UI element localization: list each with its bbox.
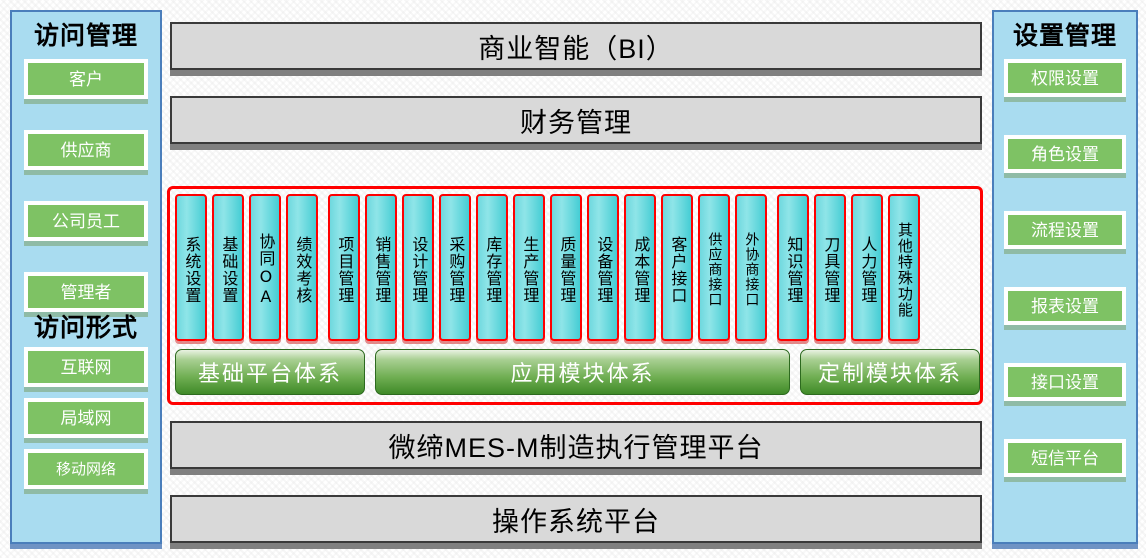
module-outsourcing-interface[interactable]: 外协商接口	[735, 194, 767, 341]
module-label: 库存管理	[484, 236, 501, 304]
module-label: 项目管理	[336, 236, 353, 304]
access-item-supplier[interactable]: 供应商	[24, 130, 148, 170]
module-quality-management[interactable]: 质量管理	[550, 194, 582, 341]
module-supplier-interface[interactable]: 供应商接口	[698, 194, 730, 341]
module-procurement-management[interactable]: 采购管理	[439, 194, 471, 341]
module-group-custom: 知识管理 刀具管理 人力管理 其他特殊功能	[777, 194, 920, 341]
module-label: 基础设置	[220, 236, 237, 304]
module-basic-settings[interactable]: 基础设置	[212, 194, 244, 341]
layer-mes-platform[interactable]: 微缔MES-M制造执行管理平台	[170, 421, 982, 469]
access-management-title: 访问管理	[12, 24, 160, 49]
module-sales-management[interactable]: 销售管理	[365, 194, 397, 341]
settings-management-title: 设置管理	[994, 24, 1136, 49]
settings-management-panel: 设置管理 权限设置 角色设置 流程设置 报表设置 接口设置 短信平台	[992, 10, 1138, 544]
module-label: 成本管理	[632, 236, 649, 304]
module-label: 知识管理	[785, 236, 802, 304]
setting-item-sms-platform[interactable]: 短信平台	[1004, 439, 1126, 477]
module-project-management[interactable]: 项目管理	[328, 194, 360, 341]
system-bar-application[interactable]: 应用模块体系	[375, 349, 790, 395]
module-label: 人力管理	[859, 236, 876, 304]
module-customer-interface[interactable]: 客户接口	[661, 194, 693, 341]
access-item-customer[interactable]: 客户	[24, 59, 148, 99]
module-production-management[interactable]: 生产管理	[513, 194, 545, 341]
layer-business-intelligence[interactable]: 商业智能（BI）	[170, 22, 982, 70]
access-management-panel: 访问管理 客户 供应商 公司员工 管理者 访问形式 互联网 局域网 移动网络	[10, 10, 162, 544]
module-group-application: 项目管理 销售管理 设计管理 采购管理 库存管理 生产管理 质量管理 设备管理 …	[328, 194, 767, 341]
setting-item-interface[interactable]: 接口设置	[1004, 363, 1126, 401]
module-label: 外协商接口	[744, 232, 759, 307]
module-tool-management[interactable]: 刀具管理	[814, 194, 846, 341]
access-form-title: 访问形式	[12, 316, 160, 341]
module-label: 质量管理	[558, 236, 575, 304]
module-label: 设计管理	[410, 236, 427, 304]
layer-financial-management[interactable]: 财务管理	[170, 96, 982, 144]
module-human-resource-management[interactable]: 人力管理	[851, 194, 883, 341]
module-other-special-functions[interactable]: 其他特殊功能	[888, 194, 920, 341]
module-label: 协同OA	[257, 233, 274, 307]
diagram-canvas: 访问管理 客户 供应商 公司员工 管理者 访问形式 互联网 局域网 移动网络 商…	[0, 0, 1146, 558]
module-equipment-management[interactable]: 设备管理	[587, 194, 619, 341]
module-label: 销售管理	[373, 236, 390, 304]
module-label: 其他特殊功能	[896, 222, 912, 318]
module-matrix: 系统设置 基础设置 协同OA 绩效考核 项目管理 销售管理 设计管理 采购管理 …	[167, 186, 983, 405]
module-label: 设备管理	[595, 236, 612, 304]
module-knowledge-management[interactable]: 知识管理	[777, 194, 809, 341]
system-bar-custom[interactable]: 定制模块体系	[800, 349, 980, 395]
access-form-internet[interactable]: 互联网	[24, 347, 148, 387]
setting-item-report[interactable]: 报表设置	[1004, 287, 1126, 325]
module-performance-appraisal[interactable]: 绩效考核	[286, 194, 318, 341]
setting-item-permission[interactable]: 权限设置	[1004, 59, 1126, 97]
module-label: 系统设置	[183, 236, 200, 304]
module-group-base-platform: 系统设置 基础设置 协同OA 绩效考核	[175, 194, 318, 341]
module-label: 绩效考核	[294, 236, 311, 304]
module-label: 刀具管理	[822, 236, 839, 304]
setting-item-role[interactable]: 角色设置	[1004, 135, 1126, 173]
module-label: 生产管理	[521, 236, 538, 304]
access-form-mobile[interactable]: 移动网络	[24, 449, 148, 489]
access-item-manager[interactable]: 管理者	[24, 272, 148, 312]
module-system-settings[interactable]: 系统设置	[175, 194, 207, 341]
module-label: 客户接口	[669, 236, 686, 304]
system-bar-base-platform[interactable]: 基础平台体系	[175, 349, 365, 395]
system-bars: 基础平台体系 应用模块体系 定制模块体系	[175, 349, 980, 395]
setting-item-workflow[interactable]: 流程设置	[1004, 211, 1126, 249]
architecture-stack: 商业智能（BI） 财务管理 系统设置 基础设置 协同OA 绩效考核 项目管理 销…	[170, 10, 982, 548]
module-cost-management[interactable]: 成本管理	[624, 194, 656, 341]
module-collaborative-oa[interactable]: 协同OA	[249, 194, 281, 341]
access-form-lan[interactable]: 局域网	[24, 398, 148, 438]
layer-operating-system[interactable]: 操作系统平台	[170, 495, 982, 543]
module-design-management[interactable]: 设计管理	[402, 194, 434, 341]
module-label: 采购管理	[447, 236, 464, 304]
module-inventory-management[interactable]: 库存管理	[476, 194, 508, 341]
bottom-shelf-strip	[0, 550, 1146, 558]
access-item-employee[interactable]: 公司员工	[24, 201, 148, 241]
module-label: 供应商接口	[707, 232, 722, 307]
module-columns: 系统设置 基础设置 协同OA 绩效考核 项目管理 销售管理 设计管理 采购管理 …	[175, 194, 920, 341]
